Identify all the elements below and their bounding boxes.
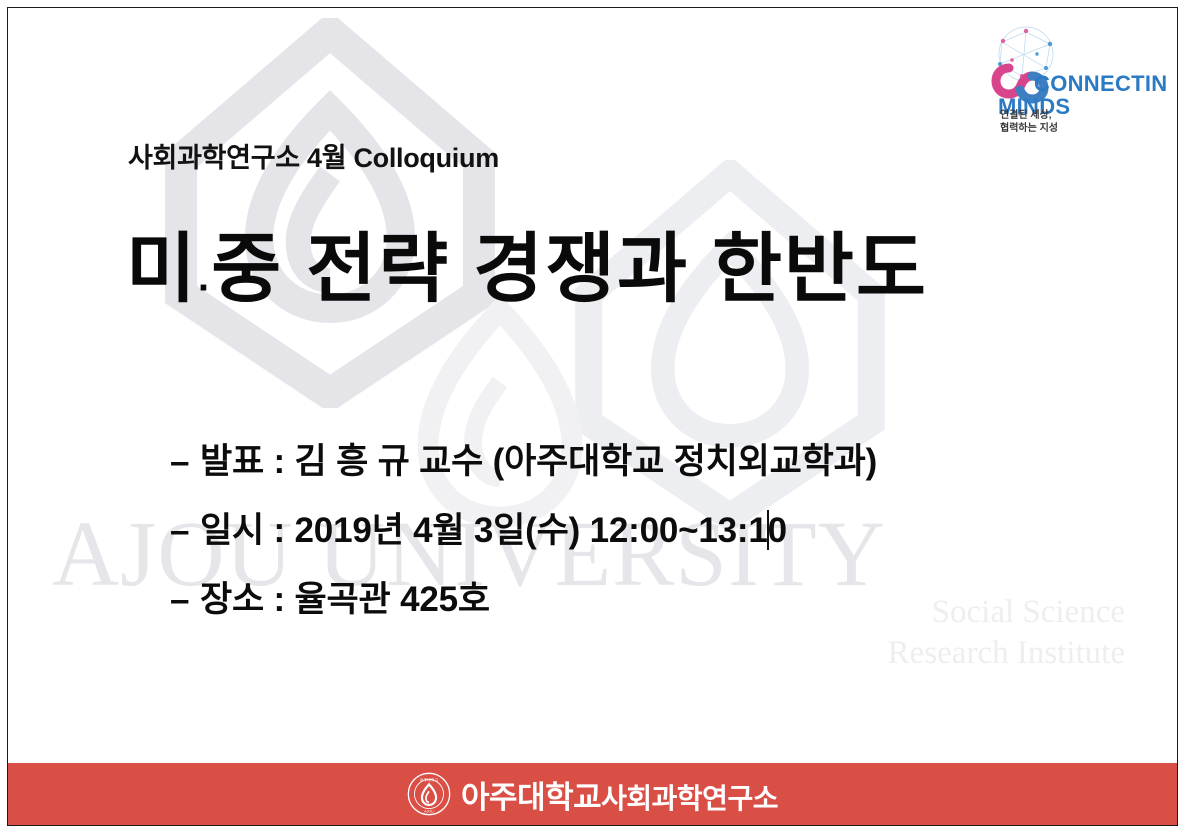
logo-tagline-line1: 연결된 세상, [1000,110,1058,123]
logo-tagline-line2: 협력하는 지성 [1000,123,1058,136]
kicker-text: 사회과학연구소 4월 Colloquium [128,136,499,175]
detail-value-datetime-after: 0 [768,511,787,550]
detail-separator-location: : [274,580,285,619]
detail-row-location: –장소 : 율곡관 425호 [170,578,1130,622]
footer-org-name: 아주대학교 [461,780,601,815]
detail-label-location: 장소 [200,580,264,619]
detail-separator-datetime: : [274,511,285,550]
detail-label-speaker: 발표 [200,442,264,481]
detail-label-datetime: 일시 [200,511,264,550]
headline-part1: 미 [126,227,198,312]
ajou-emblem-watermark-icon [150,18,510,408]
footer-bar: 아주대학교 AJOU 아주대학교사회과학연구소 [8,763,1177,825]
detail-value-speaker: 김 흥 규 교수 (아주대학교 정치외교학과) [295,442,878,481]
headline-middle-dot: · [198,266,211,310]
svg-text:AJOU: AJOU [424,809,434,813]
detail-value-datetime-before: 2019년 4월 3일(수) 12:00~13:1 [295,511,768,550]
slide-canvas: AJOU UNIVERSITY Social Science Research … [0,0,1186,832]
connecting-minds-logo: CONNECTING MINDS 연결된 세상, 협력하는 지성 [982,24,1168,122]
svg-text:아주대학교: 아주대학교 [420,778,439,783]
details-list: –발표 : 김 흥 규 교수 (아주대학교 정치외교학과) –일시 : 2019… [170,440,1130,646]
detail-row-datetime: –일시 : 2019년 4월 3일(수) 12:00~13:10 [170,509,1130,553]
page-title: 미·중 전략 경쟁과 한반도 [126,228,928,312]
headline-part2: 중 전략 경쟁과 한반도 [211,227,928,312]
detail-separator-speaker: : [274,442,285,481]
bullet-dash-icon: – [170,440,200,484]
ajou-university-emblem-icon: 아주대학교 AJOU [407,772,451,816]
bullet-dash-icon-2: – [170,509,200,553]
bullet-dash-icon-3: – [170,578,200,622]
logo-line1: CONNECTING [1034,71,1168,96]
footer-org-unit: 사회과학연구소 [601,783,778,814]
detail-value-location: 율곡관 425호 [295,580,490,619]
footer-text: 아주대학교사회과학연구소 [461,772,778,817]
detail-row-speaker: –발표 : 김 흥 규 교수 (아주대학교 정치외교학과) [170,440,1130,484]
